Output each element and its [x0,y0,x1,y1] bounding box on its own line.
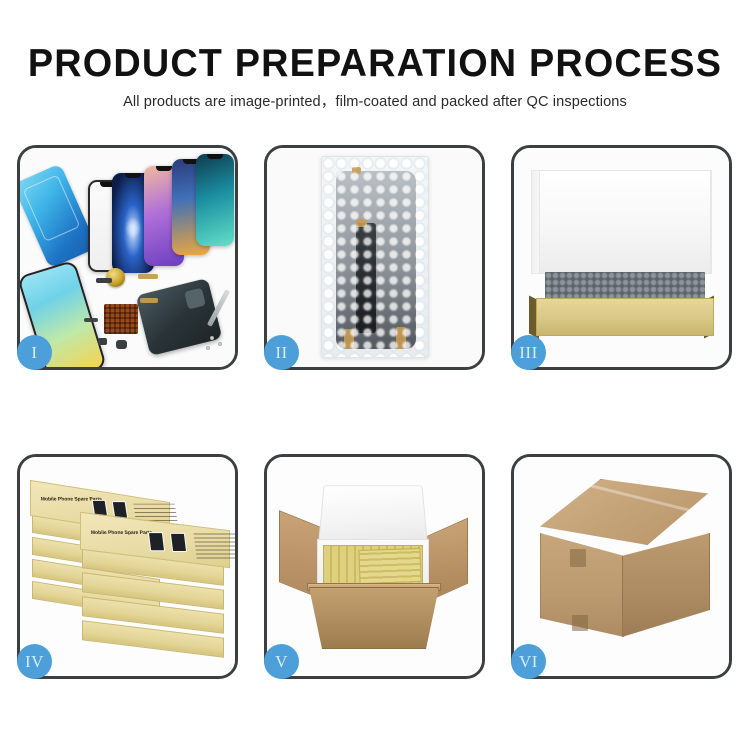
bubble-wrap-fill-icon [545,272,705,300]
step-badge-6: VI [511,644,546,679]
process-step-5: V [264,454,485,679]
page-subtitle: All products are image-printed，film-coat… [0,90,750,111]
kraft-box-front-icon [536,298,714,336]
product-preparation-infographic: PRODUCT PREPARATION PROCESS All products… [0,0,750,750]
tape-tab-icon [344,329,354,349]
screw-icon [218,342,222,346]
phone-image-icon [170,533,187,552]
screw-icon [206,346,210,350]
foam-sheet-icon [539,170,711,274]
tape-patch-icon [570,549,586,567]
process-step-3: III [511,145,732,370]
step-4-image: Mobile Phone Spare Parts Mobile Phone Sp… [20,457,235,676]
box-label-text: Mobile Phone Spare Parts [91,530,153,536]
process-step-grid: I II [17,145,733,679]
step-3-image [514,148,729,367]
step-badge-2: II [264,335,299,370]
chip-icon [116,340,127,349]
chip-icon [96,278,112,283]
carton-top-icon [540,479,708,545]
step-badge-5: V [264,644,299,679]
screen-assembly-icon [336,171,416,349]
bubble-wrap-pouch-icon [321,156,429,358]
copper-mesh-icon [104,304,138,334]
step-1-image [20,148,235,367]
tape-patch-icon [572,615,588,631]
process-step-1: I [17,145,238,370]
step-badge-3: III [511,335,546,370]
process-step-2: II [264,145,485,370]
tape-tab-icon [356,219,367,227]
carton-body-icon [309,587,439,649]
process-step-6: VI [511,454,732,679]
tape-tab-icon [352,167,361,174]
chip-icon [98,338,107,345]
box-spec-lines [194,533,235,559]
foam-lid-icon [318,485,428,543]
carton-side-icon [622,533,710,637]
step-badge-1: I [17,335,52,370]
step-5-image [267,457,482,676]
adhesive-film-icon [20,163,97,268]
page-title: PRODUCT PREPARATION PROCESS [11,42,739,86]
retail-boxes-stack-icon [358,548,421,584]
screw-icon [210,336,214,340]
step-2-image [267,148,482,367]
flex-cable-icon [84,318,98,322]
step-6-image [514,457,729,676]
phone-screen-teal-icon [196,154,234,246]
phone-image-icon [148,532,165,551]
flex-cable-icon [138,274,158,279]
tape-tab-icon [396,327,406,349]
flex-cable-icon [356,223,376,333]
process-step-4: Mobile Phone Spare Parts Mobile Phone Sp… [17,454,238,679]
step-badge-4: IV [17,644,52,679]
flex-cable-icon [140,298,158,303]
box-stack: Mobile Phone Spare Parts Mobile Phone Sp… [28,471,233,663]
